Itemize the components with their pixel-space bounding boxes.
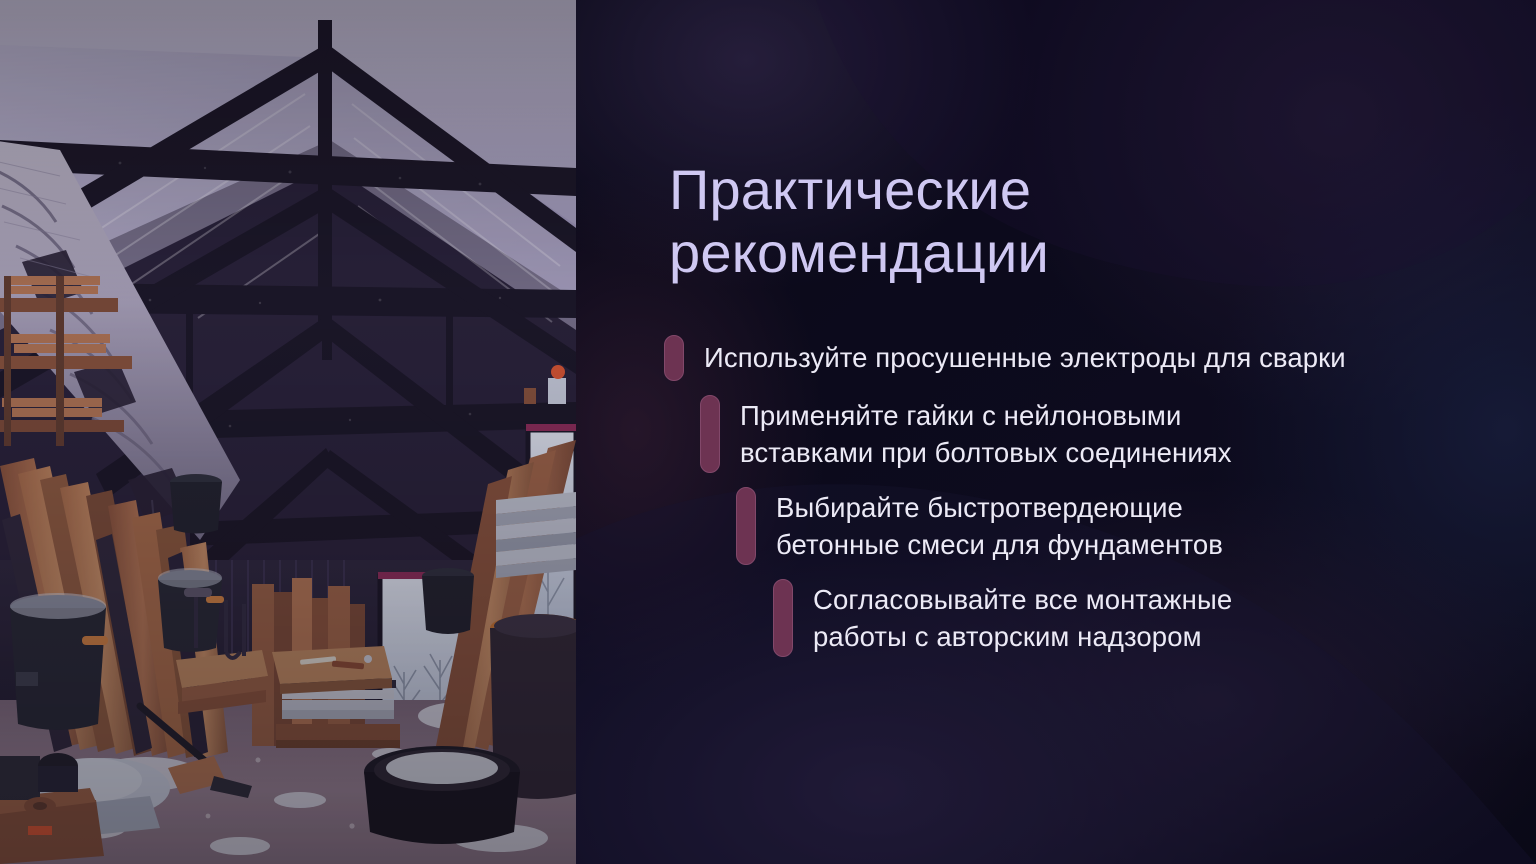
list-item-label: Используйте просушенные электроды для св…: [704, 339, 1346, 376]
bullet-marker-icon: [700, 395, 720, 473]
bullet-marker-icon: [736, 487, 756, 565]
list-item[interactable]: Выбирайте быстротвердеющие бетонные смес…: [576, 487, 1536, 565]
presentation-slide: Практические рекомендации Используйте пр…: [0, 0, 1536, 864]
recommendations-list: Используйте просушенные электроды для св…: [576, 335, 1536, 671]
list-item-label: Согласовывайте все монтажные работы с ав…: [813, 581, 1232, 656]
photo-illustration: [0, 0, 576, 864]
list-item[interactable]: Используйте просушенные электроды для св…: [576, 335, 1536, 381]
list-item[interactable]: Согласовывайте все монтажные работы с ав…: [576, 579, 1536, 657]
page-title: Практические рекомендации: [669, 158, 1369, 285]
list-item[interactable]: Применяйте гайки с нейлоновыми вставками…: [576, 395, 1536, 473]
workshop-interior-photo: [0, 0, 576, 864]
bullet-marker-icon: [773, 579, 793, 657]
bullet-marker-icon: [664, 335, 684, 381]
list-item-label: Применяйте гайки с нейлоновыми вставками…: [740, 397, 1232, 472]
list-item-label: Выбирайте быстротвердеющие бетонные смес…: [776, 489, 1223, 564]
content-panel: Практические рекомендации Используйте пр…: [576, 0, 1536, 864]
